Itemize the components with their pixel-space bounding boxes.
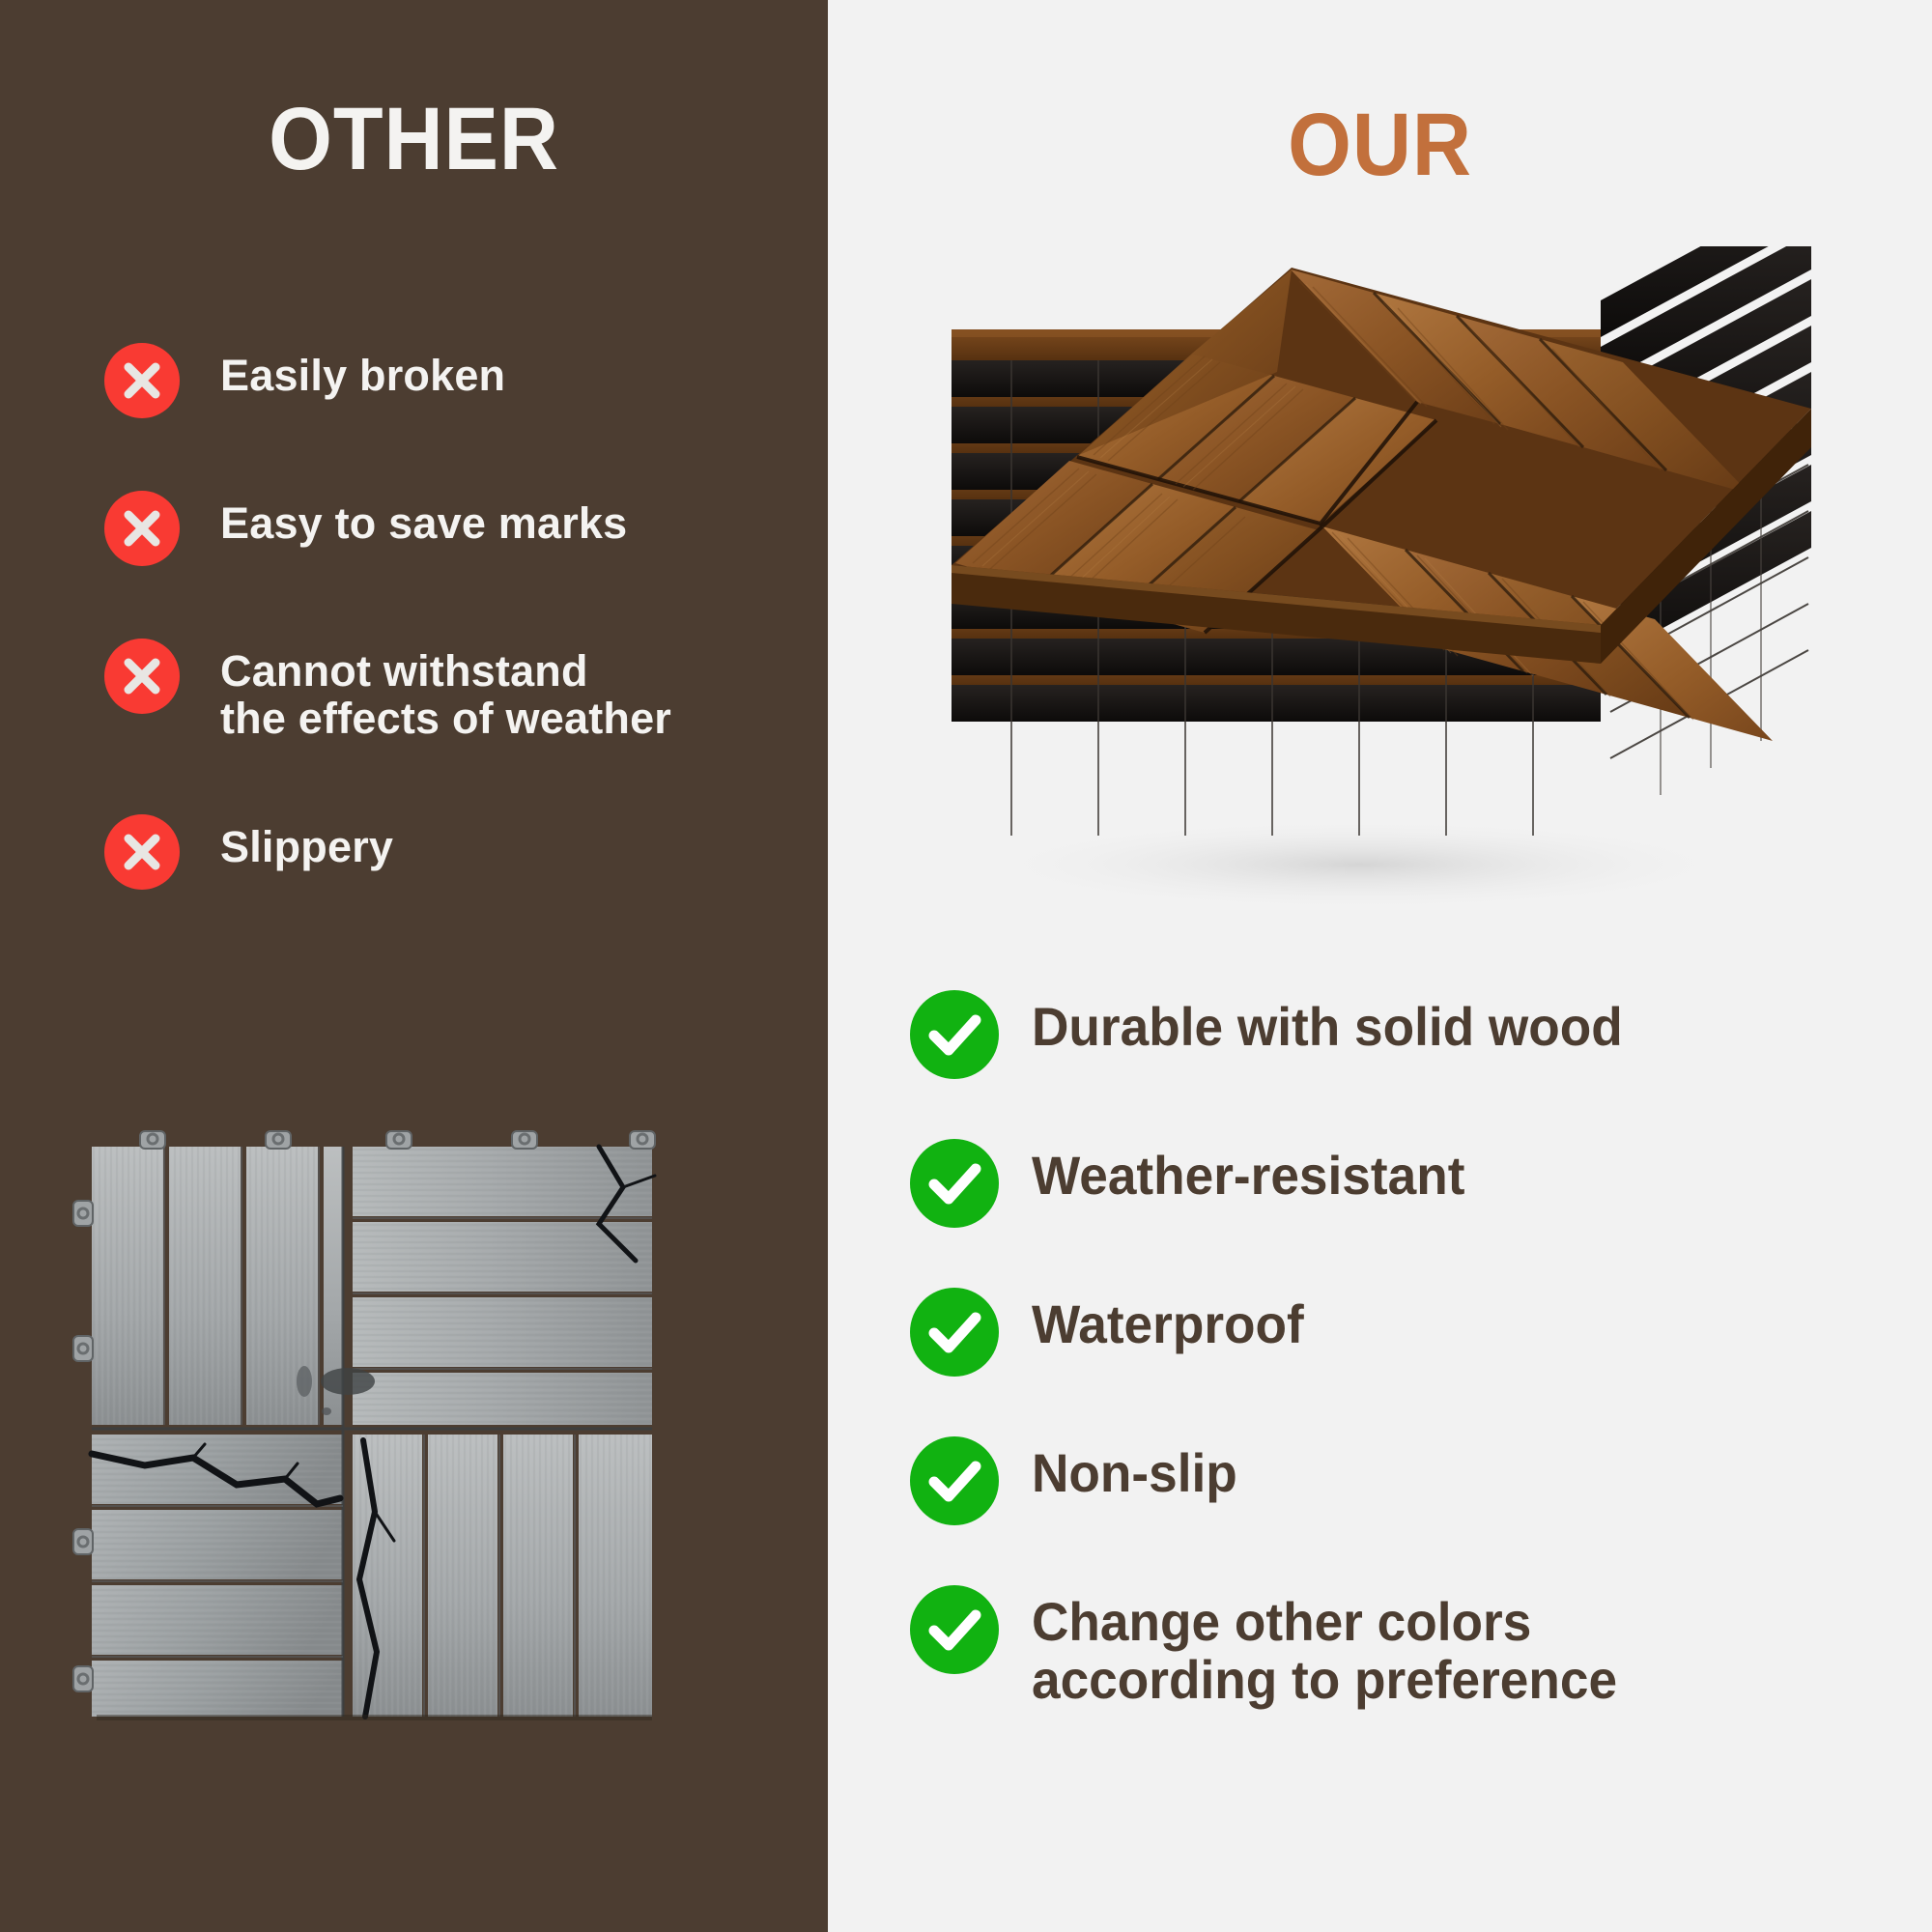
check-circle-icon [910, 990, 999, 1079]
check-circle-icon [910, 1436, 999, 1525]
list-item-label: Weather-resistant [1032, 1139, 1464, 1205]
list-item: Change other colors according to prefere… [910, 1585, 1915, 1709]
other-panel: OTHER Easily broken [0, 0, 828, 1932]
list-item: Slippery [104, 814, 781, 890]
page-title-other: OTHER [33, 95, 794, 184]
check-circle-icon [910, 1585, 999, 1674]
list-item-label: Waterproof [1032, 1288, 1304, 1353]
check-circle-icon [910, 1288, 999, 1377]
list-item: Non-slip [910, 1436, 1915, 1525]
list-item-label: Non-slip [1032, 1436, 1237, 1502]
list-item-label: Cannot withstand the effects of weather [220, 639, 671, 742]
wood-deck-tile-stack-image [934, 246, 1823, 913]
list-item: Cannot withstand the effects of weather [104, 639, 781, 742]
list-item-label: Change other colors according to prefere… [1032, 1585, 1617, 1709]
cross-circle-icon [104, 639, 180, 714]
list-item: Easily broken [104, 343, 781, 418]
list-item-label: Slippery [220, 814, 393, 871]
our-panel: OUR [828, 0, 1932, 1932]
cross-circle-icon [104, 491, 180, 566]
check-circle-icon [910, 1139, 999, 1228]
list-item-label: Durable with solid wood [1032, 990, 1623, 1056]
list-item: Weather-resistant [910, 1139, 1915, 1228]
list-item: Easy to save marks [104, 491, 781, 566]
list-item-label: Easy to save marks [220, 491, 627, 548]
gray-weathered-deck-tile-image [58, 1125, 686, 1734]
cross-circle-icon [104, 343, 180, 418]
page-title-our: OUR [872, 100, 1889, 189]
list-item: Waterproof [910, 1288, 1915, 1377]
cross-circle-icon [104, 814, 180, 890]
cons-list: Easily broken Easy to save marks [104, 343, 781, 890]
list-item-label: Easily broken [220, 343, 505, 400]
list-item: Durable with solid wood [910, 990, 1915, 1079]
comparison-infographic: OTHER Easily broken [0, 0, 1932, 1932]
pros-list: Durable with solid wood Weather-resistan… [910, 990, 1915, 1709]
